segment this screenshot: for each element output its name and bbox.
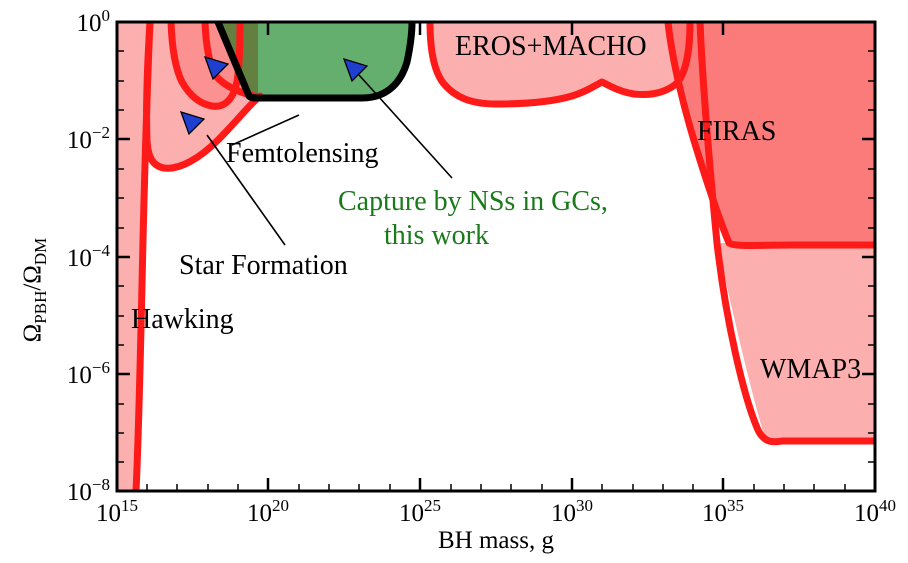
- label-star-formation: Star Formation: [179, 250, 348, 281]
- label-eros-macho: EROS+MACHO: [455, 31, 647, 62]
- pbh-constraint-plot: 1015 1020 1025 1030 1035 1040 100 10−2 1…: [0, 0, 908, 563]
- x-tick-label-0: 1015: [96, 496, 138, 527]
- x-tick-label-3: 1030: [551, 496, 593, 527]
- y-axis-title: ΩPBH/ΩDM: [19, 238, 50, 343]
- x-axis-title: BH mass, g: [438, 527, 554, 554]
- label-this-work-line2: this work: [384, 220, 489, 251]
- ylabel-sub-pbh: PBH: [31, 291, 50, 324]
- ylabel-slash: /: [19, 284, 46, 291]
- x-tick-label-5: 1040: [854, 496, 896, 527]
- ylabel-sub-dm: DM: [31, 238, 50, 265]
- y-tick-label-0: 100: [77, 6, 111, 37]
- y-tick-labels: 100 10−2 10−4 10−6 10−8: [67, 6, 111, 506]
- ylabel-omega-pbh: Ω: [19, 324, 46, 343]
- label-femtolensing: Femtolensing: [226, 138, 378, 169]
- label-wmap3: WMAP3: [760, 354, 861, 385]
- label-this-work-line1: Capture by NSs in GCs,: [338, 186, 608, 217]
- svg-text:ΩPBH/ΩDM: ΩPBH/ΩDM: [19, 238, 50, 343]
- x-tick-label-4: 1035: [702, 496, 744, 527]
- y-tick-label-2: 10−4: [67, 241, 111, 272]
- label-firas: FIRAS: [697, 116, 776, 147]
- label-hawking: Hawking: [131, 304, 234, 335]
- ylabel-omega-dm: Ω: [19, 265, 46, 284]
- region-wmap3-fill: [717, 243, 875, 442]
- x-tick-labels: 1015 1020 1025 1030 1035 1040: [96, 496, 896, 527]
- plot-canvas: 1015 1020 1025 1030 1035 1040 100 10−2 1…: [0, 0, 908, 563]
- y-tick-label-3: 10−6: [67, 358, 110, 389]
- y-tick-label-1: 10−2: [67, 123, 110, 154]
- x-tick-label-1: 1020: [247, 496, 289, 527]
- x-tick-label-2: 1025: [399, 496, 441, 527]
